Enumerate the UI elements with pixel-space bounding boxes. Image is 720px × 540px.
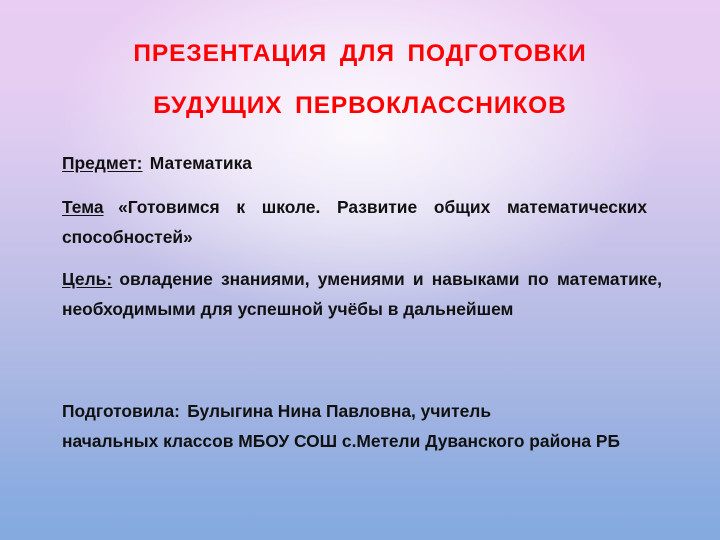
title-line-1: ПРЕЗЕНТАЦИЯ ДЛЯ ПОДГОТОВКИ (0, 42, 720, 67)
author-paragraph: Подготовила:Булыгина Нина Павловна, учит… (62, 396, 654, 456)
subject-paragraph: Предмет:Математика (62, 148, 662, 178)
author-label: Подготовила: (62, 401, 180, 421)
presentation-slide: ПРЕЗЕНТАЦИЯ ДЛЯ ПОДГОТОВКИ БУДУЩИХ ПЕРВО… (0, 0, 720, 540)
author-name: Булыгина Нина Павловна, учитель (187, 401, 491, 421)
slide-title: ПРЕЗЕНТАЦИЯ ДЛЯ ПОДГОТОВКИ БУДУЩИХ ПЕРВО… (0, 42, 720, 118)
goal-value: овладение знаниями, умениями и навыками … (62, 269, 662, 319)
subject-label: Предмет: (62, 153, 142, 173)
author-block: Подготовила:Булыгина Нина Павловна, учит… (62, 396, 662, 465)
subject-value: Математика (150, 153, 252, 173)
slide-body: Предмет:Математика Тема«Готовимся к школ… (62, 148, 662, 324)
author-line-3: Дуванского района РБ (425, 431, 620, 451)
goal-paragraph: Цель:овладение знаниями, умениями и навы… (62, 264, 662, 324)
topic-value: «Готовимся к школе. Развитие общих матем… (62, 197, 647, 247)
title-line-2: БУДУЩИХ ПЕРВОКЛАССНИКОВ (0, 94, 720, 119)
author-line-1: Подготовила:Булыгина Нина Павловна, учит… (62, 401, 491, 421)
topic-label: Тема (62, 197, 104, 217)
author-line-2: начальных классов МБОУ СОШ с.Метели (62, 431, 420, 451)
topic-paragraph: Тема«Готовимся к школе. Развитие общих м… (62, 192, 647, 252)
goal-label: Цель: (62, 269, 112, 289)
